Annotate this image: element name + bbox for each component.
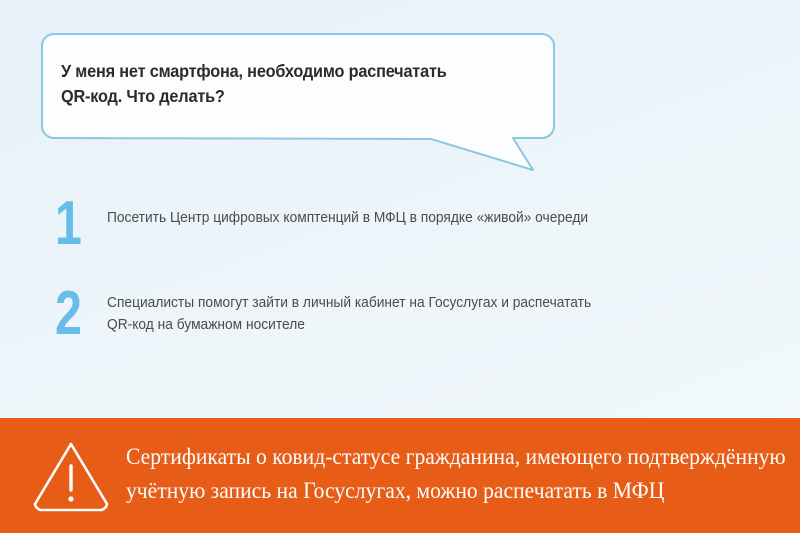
infographic-poster: У меня нет смартфона, необходимо распеча… <box>0 0 800 533</box>
warning-triangle-icon <box>30 438 112 514</box>
step-text-2: Специалисты помогут зайти в личный кабин… <box>107 286 723 336</box>
question-line-1: У меня нет смартфона, необходимо распеча… <box>61 59 507 84</box>
warning-banner-text: Сертификаты о ковид-статусе гражданина, … <box>126 440 786 512</box>
question-speech-bubble: У меня нет смартфона, необходимо распеча… <box>41 33 555 171</box>
warning-banner: Сертификаты о ковид-статусе гражданина, … <box>0 418 800 533</box>
step-1-line-1: Посетить Центр цифровых комптенций в МФЦ… <box>107 207 723 229</box>
question-line-2: QR-код. Что делать? <box>61 84 507 109</box>
step-2-line-1: Специалисты помогут зайти в личный кабин… <box>107 292 723 314</box>
step-item-1: 1 Посетить Центр цифровых комптенций в М… <box>55 196 755 252</box>
steps-list: 1 Посетить Центр цифровых комптенций в М… <box>55 196 755 376</box>
warning-line-1: Сертификаты о ковид-статусе гражданина, … <box>126 440 786 474</box>
step-item-2: 2 Специалисты помогут зайти в личный каб… <box>55 286 755 342</box>
step-text-1: Посетить Центр цифровых комптенций в МФЦ… <box>107 196 723 229</box>
question-text: У меня нет смартфона, необходимо распеча… <box>61 59 507 109</box>
step-number-2: 2 <box>55 286 96 342</box>
step-number-1: 1 <box>55 196 96 252</box>
step-2-line-2: QR-код на бумажном носителе <box>107 314 723 336</box>
warning-line-2: учётную запись на Госуслугах, можно расп… <box>126 474 786 508</box>
